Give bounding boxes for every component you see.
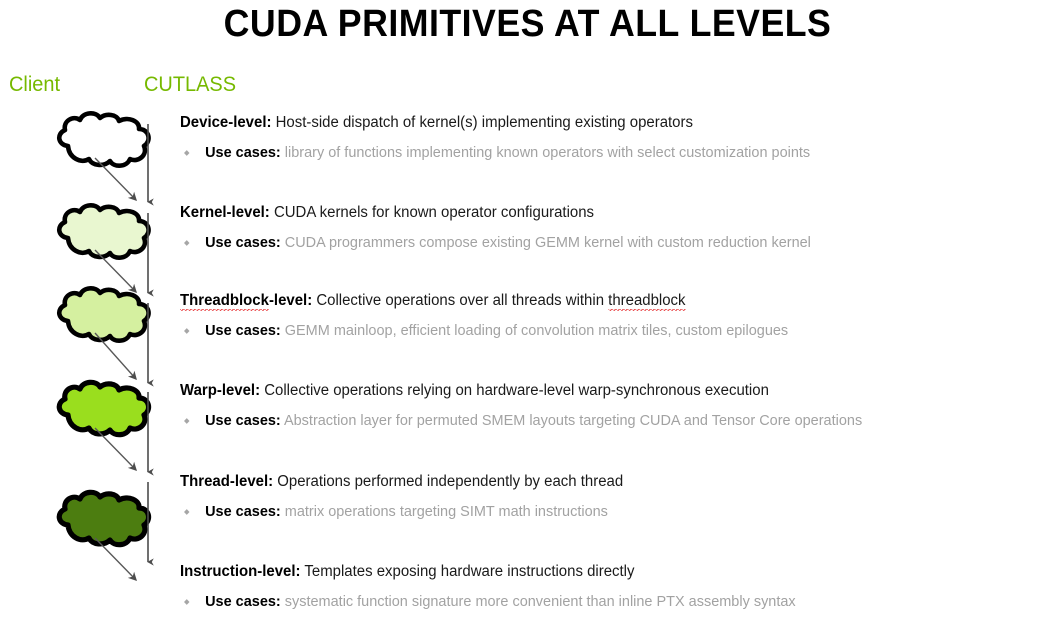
level-row-thread: Thread-level: Operations performed indep…	[180, 472, 1050, 522]
bullet-icon	[184, 240, 189, 246]
diag-arrow-1	[95, 158, 136, 200]
level-desc-misspelled-threadblock: threadblock	[608, 292, 685, 311]
cloud-kernel	[59, 205, 148, 257]
cloud-warp	[59, 382, 148, 434]
level-row-kernel: Kernel-level: CUDA kernels for known ope…	[180, 203, 1050, 253]
page-title: CUDA PRIMITIVES AT ALL LEVELS	[32, 2, 1024, 46]
level-title-warp: Warp-level: Collective operations relyin…	[180, 381, 1020, 401]
diag-arrow-5	[95, 538, 136, 580]
level-desc-kernel: CUDA kernels for known operator configur…	[270, 204, 594, 221]
usecase-body-device: library of functions implementing known …	[281, 144, 810, 161]
cloud-device	[59, 113, 148, 165]
level-lead-threadblock: Threadblock	[180, 292, 269, 311]
level-title-instruction: Instruction-level: Templates exposing ha…	[180, 562, 1020, 582]
usecase-line-instruction: Use cases: systematic function signature…	[180, 592, 1020, 612]
usecase-label-warp: Use cases:	[205, 412, 281, 429]
usecase-line-threadblock: Use cases: GEMM mainloop, efficient load…	[180, 321, 1020, 341]
usecase-label-instruction: Use cases:	[205, 593, 281, 610]
usecase-line-kernel: Use cases: CUDA programmers compose exis…	[180, 233, 1020, 253]
bullet-icon	[184, 328, 189, 334]
usecase-line-device: Use cases: library of functions implemen…	[180, 143, 1020, 163]
level-lead-suffix-threadblock: -level:	[269, 292, 312, 309]
usecase-body-thread: matrix operations targeting SIMT math in…	[281, 503, 608, 520]
usecase-label-threadblock: Use cases:	[205, 322, 281, 339]
level-row-device: Device-level: Host-side dispatch of kern…	[180, 113, 1050, 163]
diag-arrow-3	[95, 333, 136, 379]
level-lead-thread: Thread-level:	[180, 473, 273, 490]
level-title-threadblock: Threadblock-level: Collective operations…	[180, 291, 1020, 311]
usecase-body-post-threadblock: , efficient loading of convolution matri…	[393, 322, 789, 339]
diag-arrow-2	[95, 250, 136, 292]
level-row-instruction: Instruction-level: Templates exposing ha…	[180, 562, 1050, 612]
cloud-threadblock	[59, 288, 148, 340]
level-lead-kernel: Kernel-level:	[180, 204, 270, 221]
usecase-line-warp: Use cases: Abstraction layer for permute…	[180, 411, 1020, 431]
bullet-icon	[184, 418, 189, 424]
diag-arrow-4	[95, 428, 136, 470]
level-title-device: Device-level: Host-side dispatch of kern…	[180, 113, 1020, 133]
cloud-thread	[59, 492, 148, 544]
bullet-icon	[184, 599, 189, 605]
usecase-line-thread: Use cases: matrix operations targeting S…	[180, 502, 1020, 522]
level-desc-instruction: Templates exposing hardware instructions…	[301, 563, 635, 580]
level-row-threadblock: Threadblock-level: Collective operations…	[180, 291, 1050, 341]
level-desc-pre-threadblock: Collective operations over all threads w…	[312, 292, 608, 309]
bullet-icon	[184, 150, 189, 156]
level-desc-thread: Operations performed independently by ea…	[273, 473, 623, 490]
column-heading-client: Client	[9, 73, 60, 97]
bullet-icon	[184, 509, 189, 515]
level-desc-warp: Collective operations relying on hardwar…	[260, 382, 769, 399]
usecase-body-misspelled-threadblock: mainloop	[334, 322, 393, 339]
level-row-warp: Warp-level: Collective operations relyin…	[180, 381, 1050, 431]
usecase-body-kernel: CUDA programmers compose existing GEMM k…	[281, 234, 811, 251]
client-to-cutlass-arrows	[95, 158, 136, 580]
level-desc-device: Host-side dispatch of kernel(s) implemen…	[271, 114, 692, 131]
usecase-body-instruction: systematic function signature more conve…	[281, 593, 796, 610]
level-title-kernel: Kernel-level: CUDA kernels for known ope…	[180, 203, 1020, 223]
usecase-label-thread: Use cases:	[205, 503, 281, 520]
level-title-thread: Thread-level: Operations performed indep…	[180, 472, 1020, 492]
usecase-label-device: Use cases:	[205, 144, 281, 161]
level-lead-device: Device-level:	[180, 114, 271, 131]
usecase-label-kernel: Use cases:	[205, 234, 281, 251]
level-lead-instruction: Instruction-level:	[180, 563, 301, 580]
column-heading-cutlass: CUTLASS	[144, 73, 236, 97]
level-lead-warp: Warp-level:	[180, 382, 260, 399]
usecase-body-warp: Abstraction layer for permuted SMEM layo…	[281, 412, 862, 429]
usecase-body-pre-threadblock: GEMM	[281, 322, 334, 339]
